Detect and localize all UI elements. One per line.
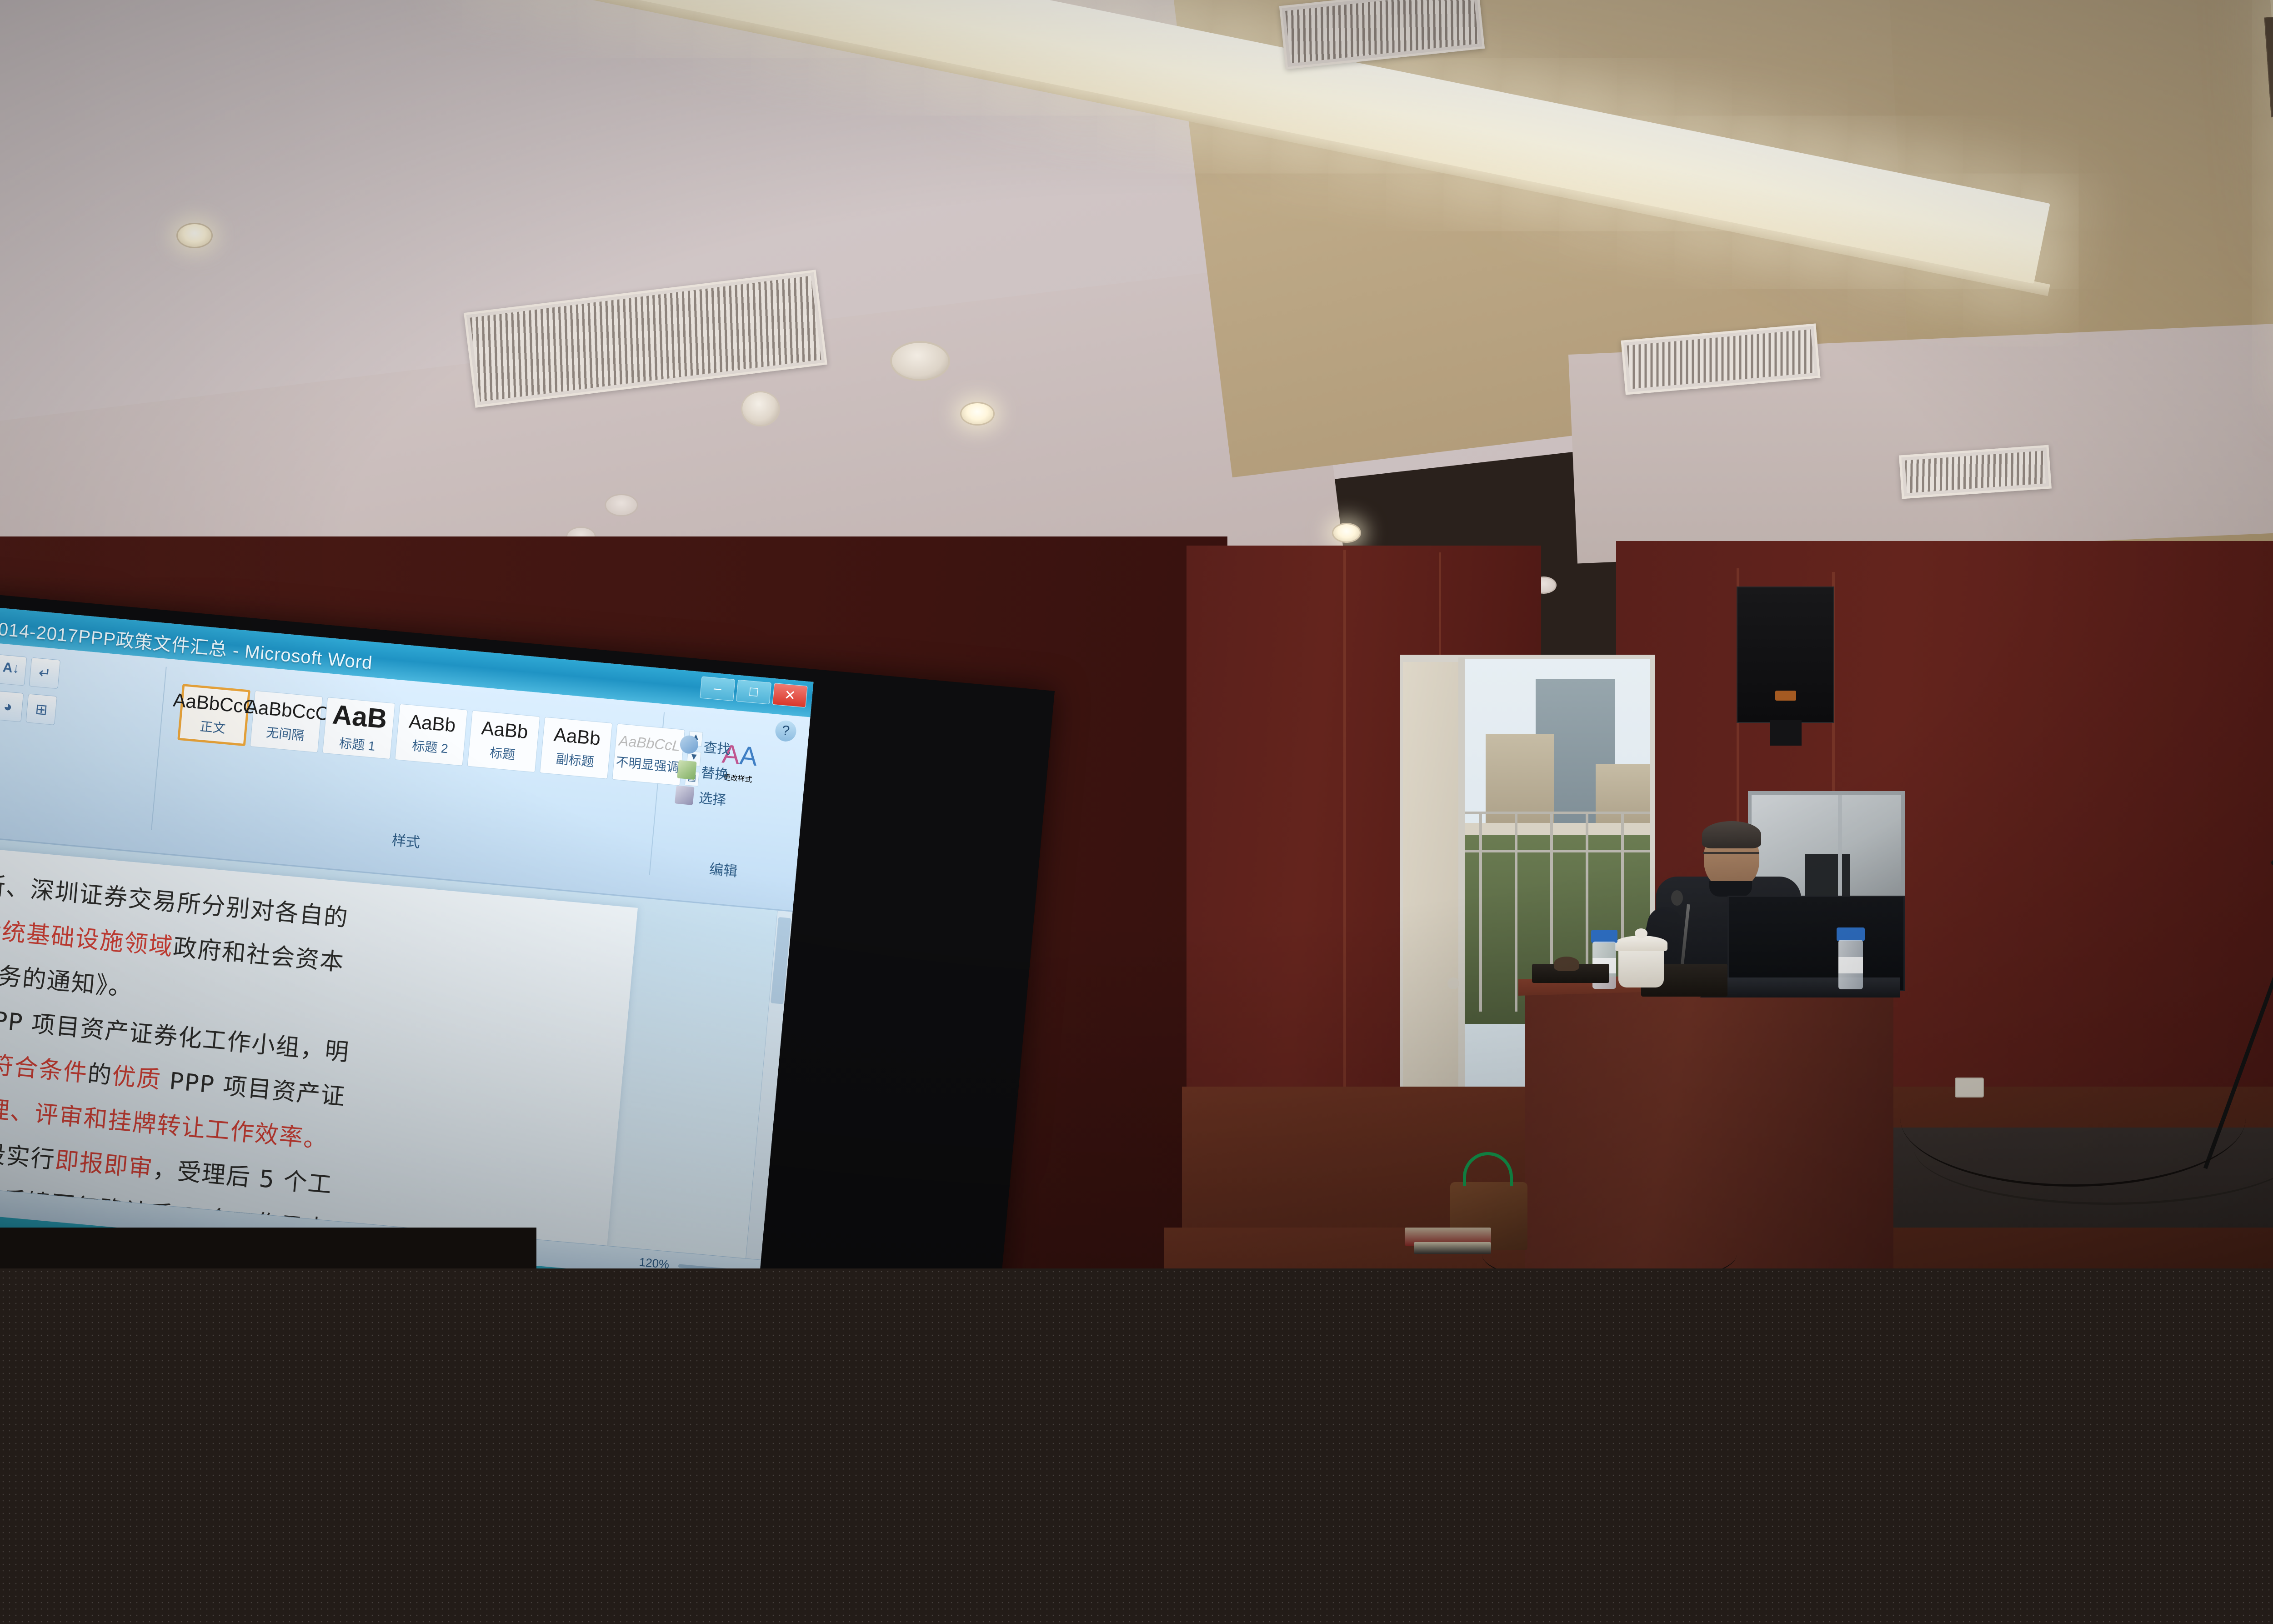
water-bottle bbox=[1837, 927, 1865, 989]
doc-text-segment-highlight: 即报即审 bbox=[54, 1147, 155, 1183]
letterbox-bottom-band bbox=[0, 1268, 2273, 1624]
doc-text-segment: 还称，项目申报阶段实行 bbox=[0, 1122, 56, 1174]
recessed-downlight-icon bbox=[960, 402, 995, 426]
speaker-brand-logo bbox=[1775, 691, 1796, 701]
ribbon-group-label-paragraph: 段落 bbox=[0, 776, 153, 827]
close-button[interactable]: ✕ bbox=[772, 683, 808, 708]
doc-text-segment: PPP 项目资产证 bbox=[160, 1067, 347, 1111]
power-outlet[interactable] bbox=[1955, 1078, 1984, 1098]
style-tile-title[interactable]: AaBb 标题 bbox=[467, 710, 541, 772]
shading-bucket-icon: ◕ bbox=[0, 691, 23, 722]
style-sample-text: AaB bbox=[331, 701, 388, 733]
find-icon bbox=[679, 735, 699, 754]
pilcrow-icon: ↵ bbox=[30, 658, 60, 688]
style-tile-normal[interactable]: AaBbCcC 正文 bbox=[177, 684, 250, 746]
replace-menu-item[interactable]: 替换 bbox=[677, 759, 730, 784]
doc-text-segment: 业务的通知》。 bbox=[0, 960, 134, 1002]
style-label: 副标题 bbox=[555, 749, 595, 770]
doc-text-segment: ，受理后 5 个工 bbox=[152, 1156, 334, 1199]
microphone-head-icon bbox=[1671, 890, 1683, 906]
style-label: 正文 bbox=[199, 717, 226, 737]
projection-screen: 2014-2017PPP政策文件汇总 - Microsoft Word – □ … bbox=[0, 590, 1055, 1268]
recessed-downlight-icon bbox=[605, 494, 638, 516]
shading-button[interactable]: ◕ bbox=[0, 691, 24, 722]
bottle-cap bbox=[1591, 930, 1617, 943]
recessed-downlight-icon bbox=[176, 223, 213, 248]
presenter-glasses bbox=[1703, 852, 1759, 854]
style-tile-heading-1[interactable]: AaB 标题 1 bbox=[322, 697, 396, 759]
style-sample-text: AaBb bbox=[481, 718, 529, 742]
doc-text-segment-highlight: 优质 bbox=[111, 1063, 162, 1094]
ribbon-group-label-editing: 编辑 bbox=[659, 853, 788, 885]
style-tile-heading-2[interactable]: AaBb 标题 2 bbox=[395, 704, 468, 766]
ribbon-group-label-styles: 样式 bbox=[161, 807, 651, 872]
ribbon-group-paragraph: ≔ ⒈≡ ⇤≡ ⇥≡ ⋏ A↓ ↵ bbox=[0, 636, 167, 830]
style-tile-no-spacing[interactable]: AaBbCcC 无间隔 bbox=[250, 691, 323, 753]
doc-text-segment-highlight: 传统基础设施领域 bbox=[0, 916, 175, 961]
style-sample-text: AaBb bbox=[553, 725, 601, 748]
zoom-slider[interactable] bbox=[678, 1264, 751, 1268]
ribbon-group-styles: AaBbCcC 正文 AaBbCcC 无间隔 AaB 标题 1 bbox=[161, 668, 665, 875]
conference-room-photo: 2014-2017PPP政策文件汇总 - Microsoft Word – □ … bbox=[0, 0, 2273, 1268]
select-label: 选择 bbox=[698, 787, 727, 809]
sort-button[interactable]: A↓ bbox=[0, 654, 27, 686]
sort-az-icon: A↓ bbox=[2, 660, 20, 677]
style-tile-subtitle[interactable]: AaBb 副标题 bbox=[540, 717, 613, 779]
bottle-cap bbox=[1837, 927, 1865, 941]
replace-icon bbox=[677, 760, 696, 780]
speaker-mount-bracket bbox=[1770, 720, 1802, 746]
screenshot-root: 2014-2017PPP政策文件汇总 - Microsoft Word – □ … bbox=[0, 0, 2273, 1624]
bottle-label bbox=[1838, 957, 1863, 973]
podium-knob bbox=[1554, 957, 1579, 971]
style-sample-text: AaBb bbox=[408, 712, 456, 735]
find-label: 查找 bbox=[703, 736, 732, 758]
notebook-on-floor bbox=[1414, 1242, 1491, 1254]
maximize-button[interactable]: □ bbox=[736, 680, 771, 705]
zoom-level[interactable]: 120% bbox=[638, 1255, 670, 1268]
smoke-detector-icon bbox=[741, 391, 780, 426]
wall-speaker bbox=[1737, 586, 1834, 723]
window-controls: – □ ✕ bbox=[700, 677, 807, 708]
laptop-screen bbox=[1727, 896, 1905, 991]
tea-cup-with-lid bbox=[1618, 947, 1664, 987]
railing-post bbox=[1515, 812, 1517, 1012]
presenter-collar bbox=[1709, 881, 1752, 897]
find-menu-item[interactable]: 查找 bbox=[679, 734, 732, 758]
select-icon bbox=[675, 785, 694, 805]
tea-cup-knob bbox=[1635, 928, 1647, 938]
style-label: 标题 1 bbox=[339, 733, 376, 755]
doc-text-segment: 政府和社会资本 bbox=[172, 934, 345, 977]
style-label: 标题 bbox=[489, 743, 516, 763]
door-handle[interactable] bbox=[1447, 977, 1459, 989]
recessed-downlight-icon bbox=[1332, 523, 1361, 543]
tripod-pan-handle bbox=[2271, 860, 2273, 865]
style-label: 标题 2 bbox=[411, 736, 449, 757]
presenter-hair bbox=[1702, 821, 1761, 848]
ceiling-speaker-icon bbox=[890, 341, 950, 381]
doc-text-segment-highlight: 符合条件 bbox=[0, 1051, 89, 1087]
style-sample-text: AaBbCcC bbox=[245, 697, 330, 724]
paragraph-mark-button[interactable]: ↵ bbox=[29, 657, 61, 689]
doc-text-segment: 的 bbox=[86, 1060, 113, 1090]
replace-label: 替换 bbox=[701, 761, 730, 783]
borders-button[interactable]: ⊞ bbox=[25, 693, 57, 725]
style-label: 无间隔 bbox=[265, 722, 305, 744]
borders-grid-icon: ⊞ bbox=[26, 694, 56, 725]
minimize-button[interactable]: – bbox=[700, 677, 735, 702]
word-application-window[interactable]: 2014-2017PPP政策文件汇总 - Microsoft Word – □ … bbox=[0, 597, 814, 1268]
select-menu-item[interactable]: 选择 bbox=[675, 784, 727, 809]
laptop-keyboard-base bbox=[1700, 977, 1900, 997]
railing-post bbox=[1479, 812, 1482, 1012]
